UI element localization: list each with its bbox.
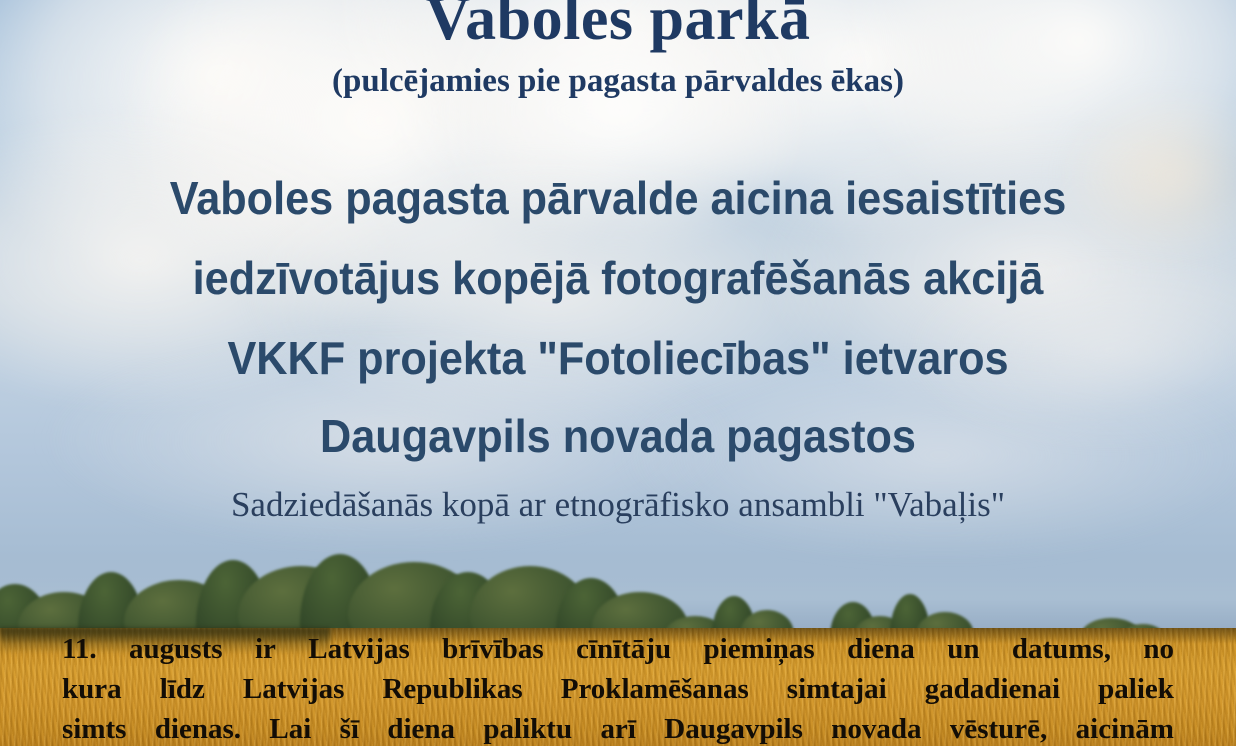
- headline-line-4: Daugavpils novada pagastos: [37, 410, 1199, 462]
- poster-tagline: Sadziedāšanās kopā ar etnogrāfisko ansam…: [0, 483, 1236, 527]
- headline-line-1: Vaboles pagasta pārvalde aicina iesaistī…: [37, 172, 1199, 224]
- body-line-1: 11.augustsirLatvijasbrīvībascīnītājupiem…: [62, 629, 1174, 669]
- poster-title: Vaboles parkā: [0, 0, 1236, 54]
- body-paragraph: 11.augustsirLatvijasbrīvībascīnītājupiem…: [62, 629, 1174, 746]
- poster-subtitle: (pulcējamies pie pagasta pārvaldes ēkas): [0, 60, 1236, 102]
- body-line-2: kuralīdzLatvijasRepublikasProklamēšanass…: [62, 669, 1174, 709]
- poster-canvas: Vaboles parkā (pulcējamies pie pagasta p…: [0, 0, 1236, 746]
- body-line-3: simtsdienas.LaišīdienapaliktuarīDaugavpi…: [62, 709, 1174, 746]
- headline-line-3: VKKF projekta "Fotoliecības" ietvaros: [37, 332, 1199, 384]
- text-layer: Vaboles parkā (pulcējamies pie pagasta p…: [0, 0, 1236, 746]
- headline-line-2: iedzīvotājus kopējā fotografēšanās akcij…: [37, 252, 1199, 304]
